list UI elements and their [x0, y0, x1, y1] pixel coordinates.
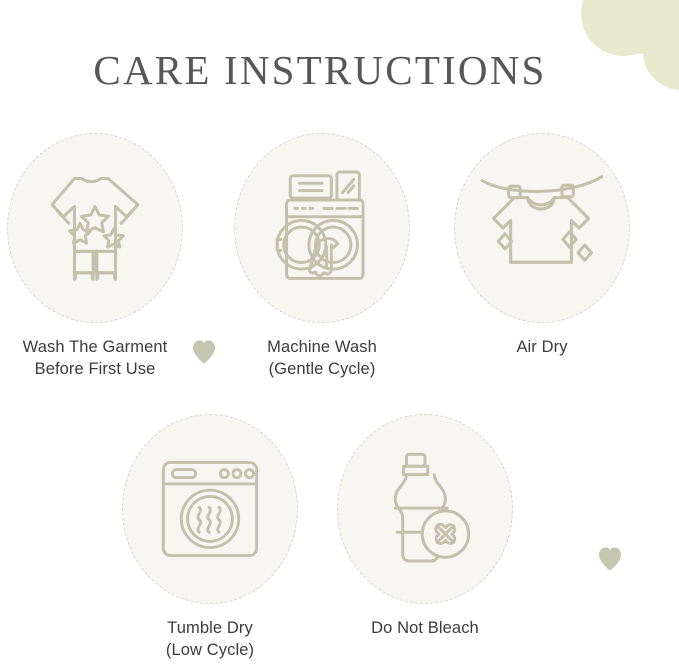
- care-label-tumble-dry: Tumble Dry (Low Cycle): [117, 618, 303, 662]
- page-title: CARE INSTRUCTIONS: [0, 46, 640, 94]
- care-item-tumble-dry[interactable]: Tumble Dry (Low Cycle): [117, 414, 303, 662]
- care-label-wash-before-first-use: Wash The Garment Before First Use: [2, 337, 188, 381]
- care-label-do-not-bleach: Do Not Bleach: [332, 618, 518, 640]
- icon-circle-machine-wash: [234, 133, 410, 323]
- washing-machine-icon: [266, 168, 378, 288]
- icon-circle-do-not-bleach: [337, 414, 513, 604]
- care-item-wash-before-first-use[interactable]: Wash The Garment Before First Use: [2, 133, 188, 381]
- care-item-machine-wash[interactable]: Machine Wash (Gentle Cycle): [229, 133, 415, 381]
- heart-accent-1-icon: [190, 338, 218, 371]
- care-row-top: Wash The Garment Before First Use: [0, 133, 679, 393]
- bleach-bottle-crossed-icon: [373, 450, 477, 568]
- pajama-set-with-stars-icon: [39, 167, 151, 289]
- icon-circle-air-dry: [454, 133, 630, 323]
- care-instructions-page: CARE INSTRUCTIONS: [0, 0, 679, 667]
- tumble-dryer-heat-icon: [158, 457, 262, 561]
- care-label-machine-wash: Machine Wash (Gentle Cycle): [229, 337, 415, 381]
- care-item-do-not-bleach[interactable]: Do Not Bleach: [332, 414, 518, 640]
- care-label-air-dry: Air Dry: [449, 337, 635, 359]
- care-item-air-dry[interactable]: Air Dry: [449, 133, 635, 359]
- clothesline-tshirt-icon: [480, 171, 604, 285]
- heart-accent-2-icon: [596, 545, 624, 578]
- care-row-bottom: Tumble Dry (Low Cycle): [0, 414, 679, 667]
- icon-circle-tumble-dry: [122, 414, 298, 604]
- icon-circle-wash-before-first-use: [7, 133, 183, 323]
